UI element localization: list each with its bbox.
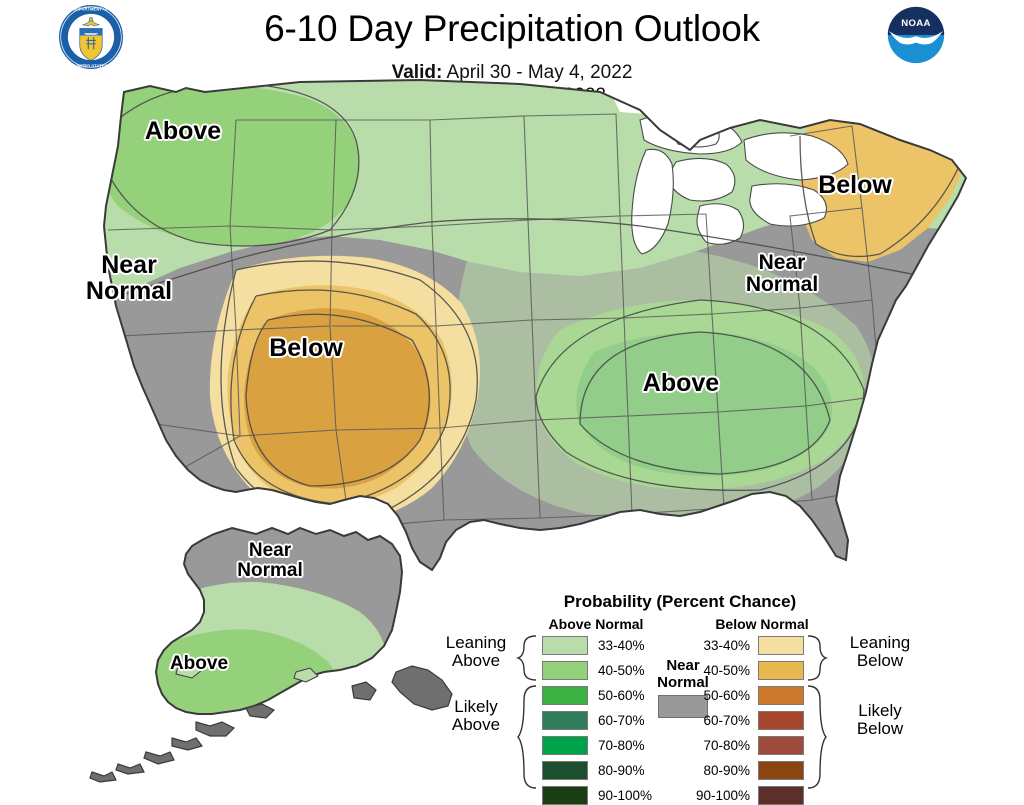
legend-label-below-50-60%: 50-60% [676,688,750,703]
legend-label-above-60-70%: 60-70% [598,713,668,728]
aleutian-islands [90,704,274,782]
legend-swatch-below-33-40% [758,636,804,655]
legend-swatch-below-80-90% [758,761,804,780]
legend-group-leaning-above: Leaning Above [428,634,524,671]
legend-above-heading: Above Normal [526,616,666,632]
legend-label-above-70-80%: 70-80% [598,738,668,753]
legend-label-below-40-50%: 40-50% [676,663,750,678]
legend-label-above-33-40%: 33-40% [598,638,668,653]
legend-swatch-below-60-70% [758,711,804,730]
legend-swatch-above-90-100% [542,786,588,805]
legend-label-above-90-100%: 90-100% [598,788,668,803]
legend-label-above-40-50%: 40-50% [598,663,668,678]
legend-group-likely-above: Likely Above [428,698,524,735]
map-label-alaska-north: Near Normal [180,541,360,581]
legend-swatch-above-40-50% [542,661,588,680]
map-label-mid-atlantic: Near Normal [692,252,872,296]
legend-label-above-80-90%: 80-90% [598,763,668,778]
legend-swatch-below-90-100% [758,786,804,805]
legend-label-above-50-60%: 50-60% [598,688,668,703]
legend-label-below-60-70%: 60-70% [676,713,750,728]
legend-swatch-above-70-80% [542,736,588,755]
legend-label-below-80-90%: 80-90% [676,763,750,778]
map-label-pacific-northwest: Above [93,118,273,144]
brace-leaning-below [806,634,828,682]
legend-swatch-above-80-90% [542,761,588,780]
map-label-west: Near Normal [39,252,219,304]
legend-swatch-below-40-50% [758,661,804,680]
brace-likely-above [516,684,538,790]
legend-label-below-90-100%: 90-100% [676,788,750,803]
legend-below-heading: Below Normal [692,616,832,632]
legend-label-below-33-40%: 33-40% [676,638,750,653]
legend-label-below-70-80%: 70-80% [676,738,750,753]
legend-group-likely-below: Likely Below [830,702,930,739]
map-label-northeast: Below [765,172,945,198]
brace-leaning-above [516,634,538,682]
legend-swatch-below-70-80% [758,736,804,755]
map-label-alaska-south: Above [109,654,289,674]
brace-likely-below [806,684,828,790]
legend-swatch-above-60-70% [542,711,588,730]
legend-group-leaning-below: Leaning Below [830,634,930,671]
map-label-southeast: Above [591,370,771,396]
legend-swatch-above-50-60% [542,686,588,705]
legend: Probability (Percent Chance) Above Norma… [430,592,930,791]
legend-swatch-above-33-40% [542,636,588,655]
canada-fill [600,70,1000,122]
map-label-southern-rockies: Below [216,335,396,361]
outlook-page: DEPARTMENT OF UNITED STATES NOAA 6-10 Da… [0,0,1024,791]
legend-title: Probability (Percent Chance) [430,592,930,612]
legend-swatch-below-50-60% [758,686,804,705]
